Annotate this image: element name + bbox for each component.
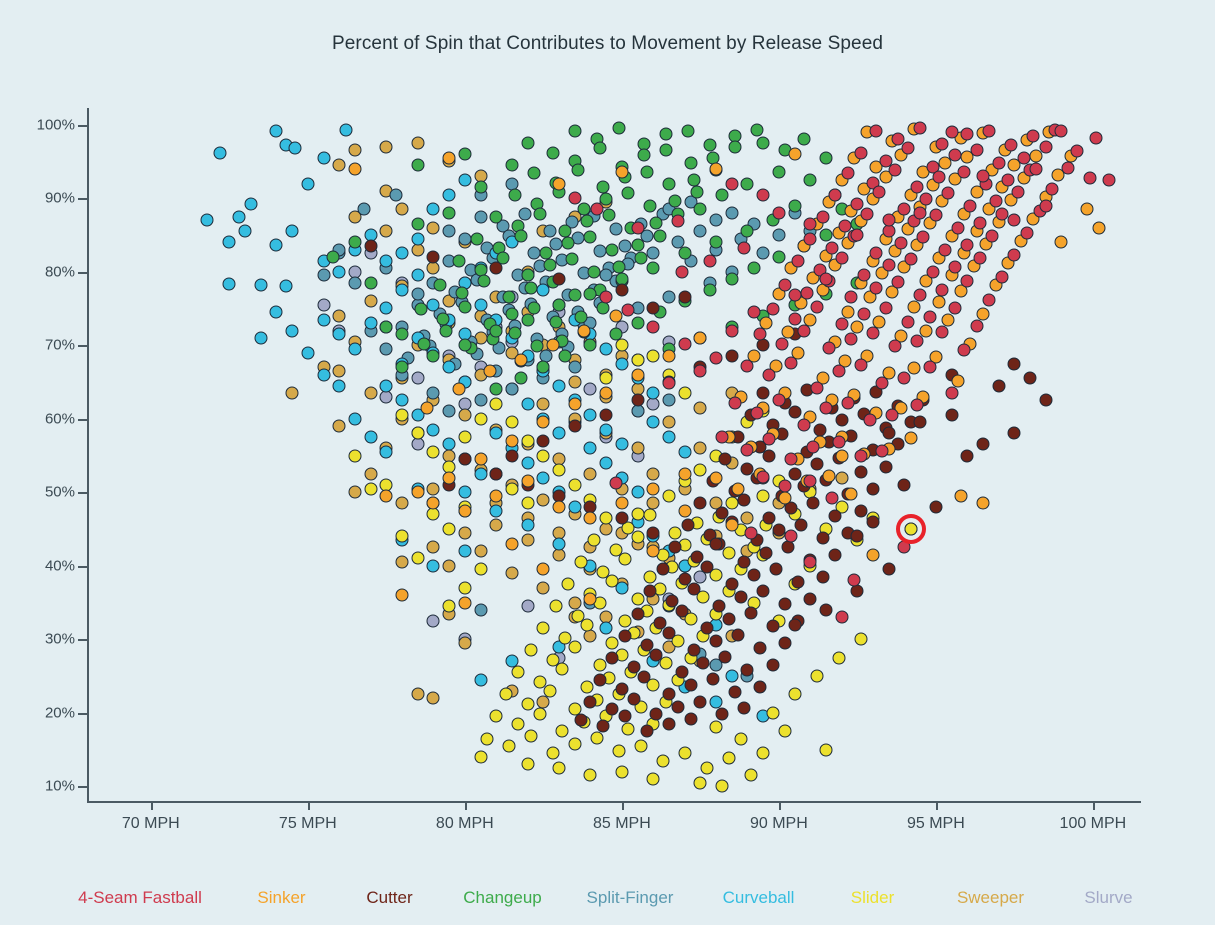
data-point[interactable] [656,754,669,767]
data-point[interactable] [992,156,1005,169]
data-point[interactable] [700,622,713,635]
data-point[interactable] [973,217,986,230]
data-point[interactable] [622,187,635,200]
data-point[interactable] [826,492,839,505]
data-point[interactable] [867,326,880,339]
data-point[interactable] [816,531,829,544]
data-point[interactable] [703,284,716,297]
data-point[interactable] [807,496,820,509]
data-point[interactable] [443,523,456,536]
data-point[interactable] [474,545,487,558]
data-point[interactable] [829,509,842,522]
data-point[interactable] [505,567,518,580]
data-point[interactable] [458,453,471,466]
data-point[interactable] [694,497,707,510]
data-point[interactable] [832,651,845,664]
data-point[interactable] [895,237,908,250]
data-point[interactable] [593,245,606,258]
data-point[interactable] [640,165,653,178]
data-point[interactable] [1039,199,1052,212]
data-point[interactable] [286,225,299,238]
data-point[interactable] [505,449,518,462]
legend-item-split-finger[interactable]: Split-Finger [562,888,699,908]
data-point[interactable] [1039,394,1052,407]
data-point[interactable] [549,315,562,328]
data-point[interactable] [804,556,817,569]
data-point[interactable] [882,214,895,227]
data-point[interactable] [474,467,487,480]
data-point[interactable] [512,717,525,730]
data-point[interactable] [662,178,675,191]
data-point[interactable] [854,504,867,517]
data-point[interactable] [603,209,616,222]
data-point[interactable] [738,494,751,507]
data-point[interactable] [716,707,729,720]
data-point[interactable] [339,123,352,136]
data-point[interactable] [804,173,817,186]
data-point[interactable] [317,151,330,164]
data-point[interactable] [427,541,440,554]
data-point[interactable] [1046,183,1059,196]
data-point[interactable] [524,281,537,294]
data-point[interactable] [688,644,701,657]
data-point[interactable] [584,383,597,396]
data-point[interactable] [490,383,503,396]
data-point[interactable] [735,732,748,745]
data-point[interactable] [961,239,974,252]
data-point[interactable] [832,364,845,377]
data-point[interactable] [688,582,701,595]
data-point[interactable] [779,725,792,738]
data-point[interactable] [763,450,776,463]
data-point[interactable] [380,445,393,458]
data-point[interactable] [1039,141,1052,154]
data-point[interactable] [301,346,314,359]
data-point[interactable] [819,273,832,286]
data-point[interactable] [443,225,456,238]
data-point[interactable] [819,402,832,415]
data-point[interactable] [458,636,471,649]
data-point[interactable] [788,467,801,480]
data-point[interactable] [556,725,569,738]
data-point[interactable] [669,195,682,208]
data-point[interactable] [396,394,409,407]
data-point[interactable] [615,683,628,696]
data-point[interactable] [766,706,779,719]
data-point[interactable] [553,537,566,550]
data-point[interactable] [458,301,471,314]
data-point[interactable] [213,147,226,160]
data-point[interactable] [728,686,741,699]
data-point[interactable] [587,266,600,279]
data-point[interactable] [524,729,537,742]
data-point[interactable] [647,350,660,363]
data-point[interactable] [411,287,424,300]
data-point[interactable] [961,449,974,462]
data-point[interactable] [439,325,452,338]
data-point[interactable] [713,600,726,613]
data-point[interactable] [631,531,644,544]
data-point[interactable] [427,559,440,572]
data-point[interactable] [694,695,707,708]
data-point[interactable] [898,202,911,215]
data-point[interactable] [631,394,644,407]
data-point[interactable] [458,581,471,594]
data-point[interactable] [867,515,880,528]
data-point[interactable] [578,202,591,215]
data-point[interactable] [333,364,346,377]
data-point[interactable] [411,552,424,565]
data-point[interactable] [835,317,848,330]
data-point[interactable] [662,291,675,304]
data-point[interactable] [757,747,770,760]
data-point[interactable] [443,600,456,613]
legend-item-curveball[interactable]: Curveball [699,888,819,908]
data-point[interactable] [791,254,804,267]
data-point[interactable] [521,434,534,447]
data-point[interactable] [411,159,424,172]
data-point[interactable] [678,338,691,351]
data-point[interactable] [662,626,675,639]
data-point[interactable] [819,603,832,616]
data-point[interactable] [788,289,801,302]
data-point[interactable] [684,678,697,691]
data-point[interactable] [694,401,707,414]
data-point[interactable] [929,209,942,222]
data-point[interactable] [358,203,371,216]
data-point[interactable] [505,537,518,550]
data-point[interactable] [537,361,550,374]
data-point[interactable] [662,717,675,730]
data-point[interactable] [882,427,895,440]
data-point[interactable] [933,170,946,183]
data-point[interactable] [810,458,823,471]
data-point[interactable] [477,274,490,287]
data-point[interactable] [518,207,531,220]
data-point[interactable] [678,387,691,400]
data-point[interactable] [995,270,1008,283]
data-point[interactable] [911,334,924,347]
data-point[interactable] [615,357,628,370]
data-point[interactable] [427,203,440,216]
data-point[interactable] [396,497,409,510]
data-point[interactable] [750,123,763,136]
data-point[interactable] [333,309,346,322]
data-point[interactable] [615,339,628,352]
data-point[interactable] [521,137,534,150]
data-point[interactable] [333,328,346,341]
highlighted-data-point[interactable] [904,523,917,536]
data-point[interactable] [710,721,723,734]
data-point[interactable] [600,291,613,304]
data-point[interactable] [659,127,672,140]
data-point[interactable] [976,497,989,510]
data-point[interactable] [662,350,675,363]
data-point[interactable] [851,228,864,241]
data-point[interactable] [364,276,377,289]
data-point[interactable] [537,622,550,635]
data-point[interactable] [584,467,597,480]
data-point[interactable] [637,148,650,161]
data-point[interactable] [490,467,503,480]
data-point[interactable] [678,747,691,760]
data-point[interactable] [537,563,550,576]
data-point[interactable] [936,137,949,150]
data-point[interactable] [854,450,867,463]
data-point[interactable] [841,396,854,409]
data-point[interactable] [537,398,550,411]
data-point[interactable] [672,700,685,713]
data-point[interactable] [911,181,924,194]
data-point[interactable] [760,546,773,559]
data-point[interactable] [546,146,559,159]
data-point[interactable] [348,342,361,355]
data-point[interactable] [1008,214,1021,227]
data-point[interactable] [622,722,635,735]
data-point[interactable] [647,526,660,539]
data-point[interactable] [688,173,701,186]
data-point[interactable] [819,743,832,756]
data-point[interactable] [474,563,487,576]
legend-item-sinker[interactable]: Sinker [228,888,336,908]
data-point[interactable] [537,581,550,594]
data-point[interactable] [521,697,534,710]
data-point[interactable] [543,225,556,238]
data-point[interactable] [568,361,581,374]
data-point[interactable] [600,269,613,282]
data-point[interactable] [559,350,572,363]
data-point[interactable] [732,482,745,495]
data-point[interactable] [669,541,682,554]
data-point[interactable] [433,278,446,291]
data-point[interactable] [867,548,880,561]
data-point[interactable] [270,306,283,319]
data-point[interactable] [553,298,566,311]
data-point[interactable] [612,122,625,135]
data-point[interactable] [744,606,757,619]
data-point[interactable] [694,464,707,477]
data-point[interactable] [380,140,393,153]
data-point[interactable] [914,289,927,302]
data-point[interactable] [584,339,597,352]
data-point[interactable] [873,185,886,198]
data-point[interactable] [631,486,644,499]
data-point[interactable] [286,387,299,400]
data-point[interactable] [797,418,810,431]
data-point[interactable] [757,584,770,597]
data-point[interactable] [458,232,471,245]
data-point[interactable] [907,301,920,314]
data-point[interactable] [427,251,440,264]
data-point[interactable] [348,144,361,157]
data-point[interactable] [662,431,675,444]
data-point[interactable] [750,406,763,419]
data-point[interactable] [615,438,628,451]
data-point[interactable] [549,600,562,613]
data-point[interactable] [757,489,770,502]
data-point[interactable] [521,268,534,281]
data-point[interactable] [380,302,393,315]
data-point[interactable] [396,361,409,374]
data-point[interactable] [857,307,870,320]
data-point[interactable] [961,275,974,288]
data-point[interactable] [650,217,663,230]
data-point[interactable] [606,575,619,588]
data-point[interactable] [490,324,503,337]
data-point[interactable] [458,504,471,517]
data-point[interactable] [553,761,566,774]
data-point[interactable] [776,337,789,350]
legend-item-slider[interactable]: Slider [819,888,927,908]
data-point[interactable] [628,692,641,705]
data-point[interactable] [797,133,810,146]
data-point[interactable] [747,306,760,319]
data-point[interactable] [681,519,694,532]
data-point[interactable] [575,310,588,323]
data-point[interactable] [870,124,883,137]
data-point[interactable] [976,170,989,183]
data-point[interactable] [785,453,798,466]
data-point[interactable] [612,745,625,758]
data-point[interactable] [716,431,729,444]
data-point[interactable] [797,325,810,338]
data-point[interactable] [565,253,578,266]
data-point[interactable] [816,570,829,583]
data-point[interactable] [333,159,346,172]
data-point[interactable] [521,497,534,510]
data-point[interactable] [889,164,902,177]
data-point[interactable] [559,224,572,237]
data-point[interactable] [201,214,214,227]
data-point[interactable] [584,442,597,455]
data-point[interactable] [725,324,738,337]
data-point[interactable] [568,375,581,388]
data-point[interactable] [584,409,597,422]
data-point[interactable] [647,772,660,785]
data-point[interactable] [411,269,424,282]
data-point[interactable] [254,278,267,291]
data-point[interactable] [521,534,534,547]
data-point[interactable] [779,480,792,493]
data-point[interactable] [474,603,487,616]
data-point[interactable] [474,394,487,407]
data-point[interactable] [537,471,550,484]
data-point[interactable] [898,478,911,491]
data-point[interactable] [904,253,917,266]
data-point[interactable] [232,210,245,223]
data-point[interactable] [490,519,503,532]
data-point[interactable] [898,541,911,554]
data-point[interactable] [631,368,644,381]
data-point[interactable] [738,702,751,715]
data-point[interactable] [728,397,741,410]
data-point[interactable] [333,265,346,278]
data-point[interactable] [1071,145,1084,158]
data-point[interactable] [490,710,503,723]
data-point[interactable] [747,262,760,275]
data-point[interactable] [553,464,566,477]
data-point[interactable] [411,486,424,499]
data-point[interactable] [1061,162,1074,175]
data-point[interactable] [835,414,848,427]
data-point[interactable] [609,477,622,490]
data-point[interactable] [920,192,933,205]
data-point[interactable] [945,387,958,400]
data-point[interactable] [917,231,930,244]
data-point[interactable] [543,259,556,272]
data-point[interactable] [637,670,650,683]
data-point[interactable] [348,276,361,289]
data-point[interactable] [766,659,779,672]
data-point[interactable] [848,574,861,587]
data-point[interactable] [389,188,402,201]
data-point[interactable] [474,750,487,763]
data-point[interactable] [512,666,525,679]
data-point[interactable] [823,470,836,483]
data-point[interactable] [1083,171,1096,184]
data-point[interactable] [710,236,723,249]
data-point[interactable] [396,328,409,341]
data-point[interactable] [885,409,898,422]
data-point[interactable] [951,374,964,387]
data-point[interactable] [948,261,961,274]
data-point[interactable] [474,298,487,311]
data-point[interactable] [681,125,694,138]
data-point[interactable] [710,162,723,175]
data-point[interactable] [1002,173,1015,186]
data-point[interactable] [772,206,785,219]
data-point[interactable] [870,246,883,259]
data-point[interactable] [647,416,660,429]
data-point[interactable] [889,339,902,352]
data-point[interactable] [480,732,493,745]
data-point[interactable] [581,215,594,228]
data-point[interactable] [738,242,751,255]
data-point[interactable] [427,423,440,436]
data-point[interactable] [600,372,613,385]
data-point[interactable] [662,688,675,701]
data-point[interactable] [854,359,867,372]
data-point[interactable] [490,427,503,440]
data-point[interactable] [521,398,534,411]
data-point[interactable] [678,247,691,260]
data-point[interactable] [587,534,600,547]
data-point[interactable] [741,443,754,456]
data-point[interactable] [600,342,613,355]
data-point[interactable] [245,198,258,211]
data-point[interactable] [590,203,603,216]
data-point[interactable] [474,210,487,223]
data-point[interactable] [955,489,968,502]
data-point[interactable] [568,478,581,491]
data-point[interactable] [443,559,456,572]
data-point[interactable] [898,371,911,384]
data-point[interactable] [694,331,707,344]
data-point[interactable] [581,619,594,632]
data-point[interactable] [458,486,471,499]
data-point[interactable] [1008,427,1021,440]
data-point[interactable] [719,650,732,663]
data-point[interactable] [788,688,801,701]
data-point[interactable] [788,406,801,419]
data-point[interactable] [615,765,628,778]
data-point[interactable] [1008,248,1021,261]
data-point[interactable] [631,221,644,234]
data-point[interactable] [779,597,792,610]
data-point[interactable] [1102,173,1115,186]
data-point[interactable] [521,758,534,771]
data-point[interactable] [575,714,588,727]
